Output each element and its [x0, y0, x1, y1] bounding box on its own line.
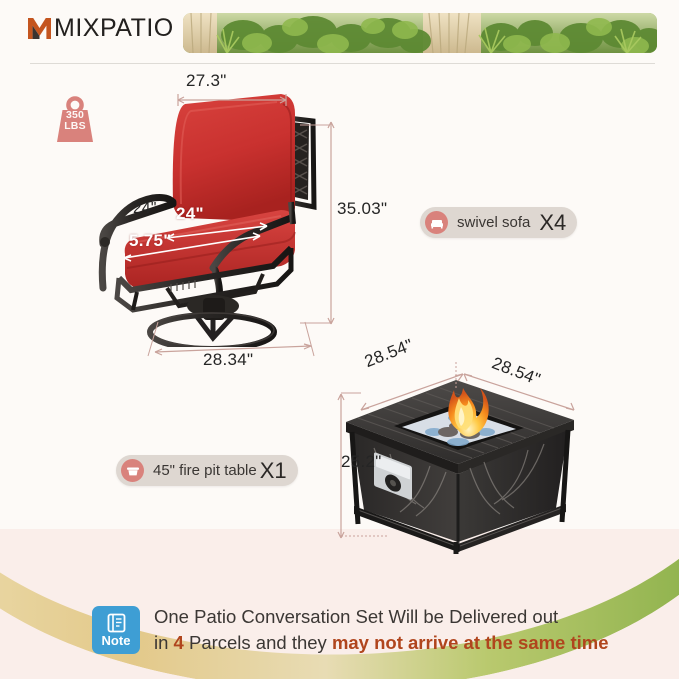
note-highlight: may not arrive at the same time — [332, 632, 609, 653]
chair-height-dimension: 35.03" — [337, 199, 387, 219]
note-text: One Patio Conversation Set Will be Deliv… — [154, 604, 609, 656]
note-parcel-count: 4 — [174, 632, 184, 653]
chair-seat-depth-value: 24" — [176, 204, 204, 223]
chair-seat-depth-dimension: 24" — [176, 204, 204, 224]
chair-cushion-thickness-arrow — [120, 228, 266, 262]
firepit-top-left-value: 28.54" — [362, 335, 416, 372]
chair-width-value: 27.3" — [186, 71, 227, 90]
firepit-apex-extension — [455, 362, 457, 388]
swivel-sofa-illustration — [95, 92, 330, 347]
chair-width-arrow — [173, 94, 291, 106]
firepit-top-left-arrow — [357, 370, 467, 414]
infographic-page: MIXPATIO — [0, 0, 679, 679]
chair-height-arrow — [325, 118, 337, 328]
firepit-top-right-arrow — [460, 370, 578, 414]
firepit-height-extension-bottom — [341, 535, 389, 537]
page-header: MIXPATIO — [0, 0, 679, 66]
note-line-2-mid: Parcels and they — [184, 632, 332, 653]
brand-logo: MIXPATIO — [26, 15, 174, 42]
header-banner-image — [183, 13, 657, 53]
chair-base-extension-left — [146, 322, 160, 358]
weight-unit: LBS — [53, 121, 97, 132]
chair-width-dimension: 27.3" — [186, 71, 227, 91]
brand-name: MIXPATIO — [54, 15, 174, 42]
firepit-top-right-dimension: 28.54" — [489, 352, 539, 372]
note-badge-label: Note — [102, 634, 131, 647]
note-line-1: One Patio Conversation Set Will be Deliv… — [154, 606, 558, 627]
firepit-height-extension-top — [341, 392, 361, 394]
swivel-sofa-label: swivel sofa — [457, 215, 530, 230]
firepit-height-dimension: 25.2" — [341, 452, 382, 472]
weight-badge-text: 350 LBS — [53, 110, 97, 132]
chair-base-width-arrow — [150, 344, 316, 356]
firepit-height-arrow — [335, 390, 347, 542]
firepit-height-value: 25.2" — [341, 452, 382, 471]
chair-back-depth-dimension: 24" — [133, 200, 157, 218]
logo-m-mark-icon — [26, 15, 53, 42]
note-badge: Note — [92, 606, 140, 654]
fire-pit-table-pill[interactable]: 45" fire pit table X1 — [116, 455, 298, 486]
note-book-icon — [107, 613, 126, 633]
firepit-top-left-dimension: 28.54" — [369, 352, 419, 372]
chair-base-extension-right — [303, 322, 317, 358]
fire-pit-table-qty: X1 — [260, 460, 287, 482]
chair-height-extension-top — [300, 124, 330, 126]
swivel-sofa-pill[interactable]: swivel sofa X4 — [420, 207, 577, 238]
header-divider — [30, 63, 655, 64]
chair-height-value: 35.03" — [337, 199, 387, 218]
note-line-2-prefix: in — [154, 632, 174, 653]
chair-back-depth-value: 24" — [133, 200, 157, 217]
fire-pit-table-label: 45" fire pit table — [153, 463, 257, 478]
swivel-sofa-qty: X4 — [539, 212, 566, 234]
sofa-icon — [425, 211, 448, 234]
firepit-icon — [121, 459, 144, 482]
delivery-note: Note One Patio Conversation Set Will be … — [92, 604, 609, 656]
weight-capacity-badge: 350 LBS — [53, 96, 97, 144]
